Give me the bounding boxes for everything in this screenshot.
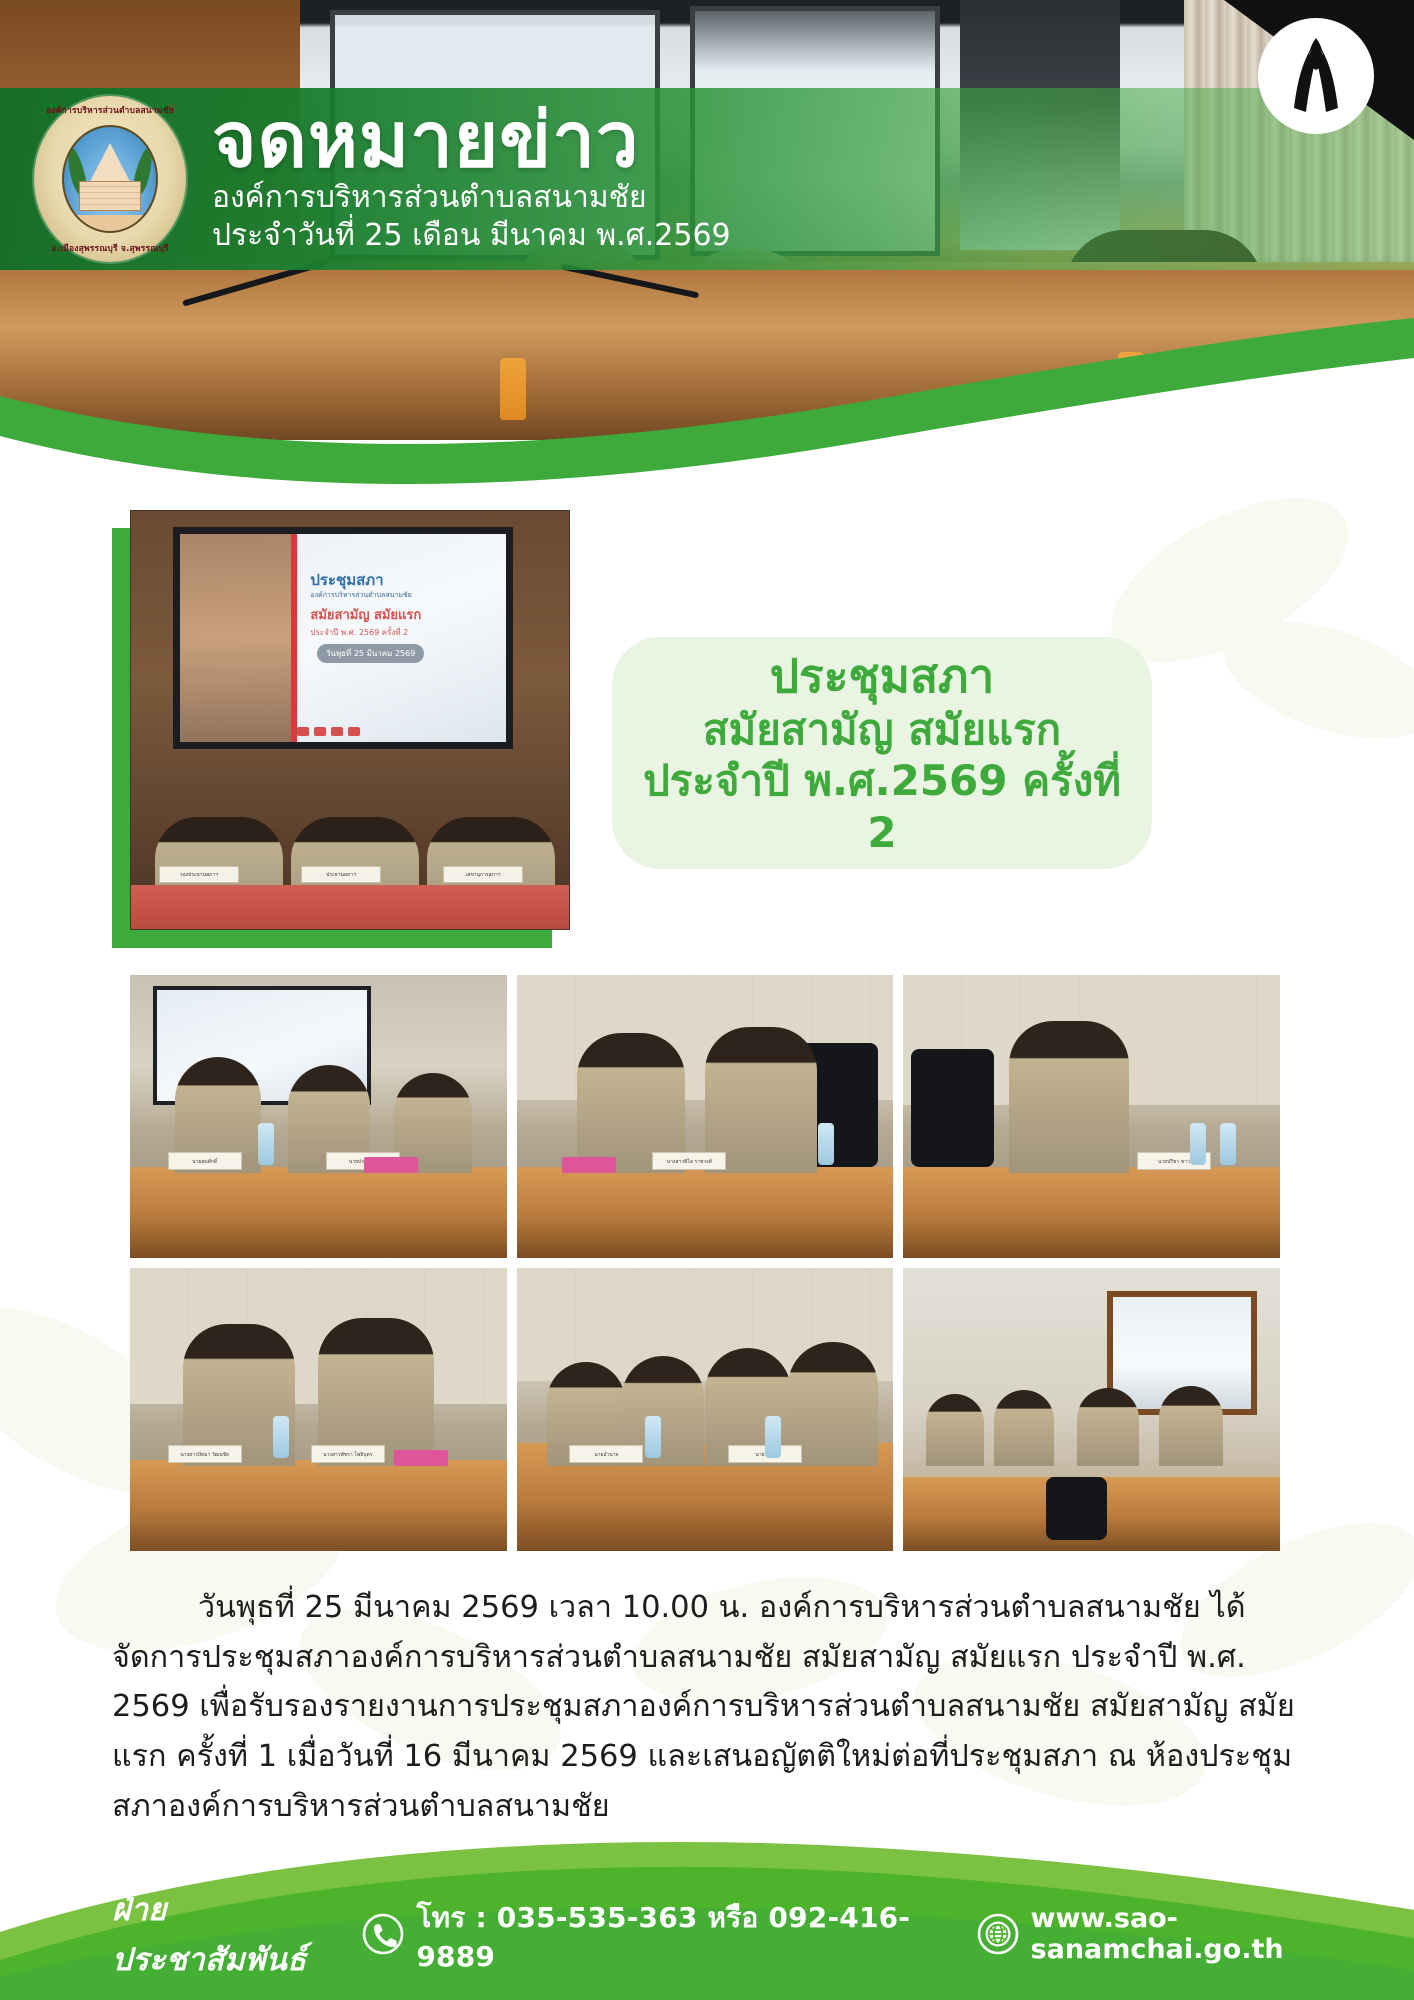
featured-photo-block: ประชุมสภา องค์การบริหารส่วนตำบลสนามชัย ส…	[130, 510, 570, 930]
organization-seal-icon: องค์การบริหารส่วนตำบลสนามชัย อ.เมืองสุพร…	[34, 96, 186, 262]
footer-department: ฝ่ายประชาสัมพันธ์	[112, 1884, 350, 1984]
header-text-block: จดหมายข่าว องค์การบริหารส่วนตำบลสนามชัย …	[212, 104, 731, 254]
featured-nameplate-1: รองประธานสภาฯ	[159, 866, 239, 883]
gallery1-nameplate-1: นายสมศักดิ์	[168, 1152, 242, 1170]
slide-org: องค์การบริหารส่วนตำบลสนามชัย	[310, 590, 411, 601]
gallery-photo-6	[903, 1268, 1280, 1551]
phone-icon	[362, 1913, 404, 1955]
gallery-photo-5: นายอำนาจ นายวิชัย	[517, 1268, 894, 1551]
event-title-line-2: สมัยสามัญ สมัยแรก	[703, 704, 1061, 755]
event-title-card: ประชุมสภา สมัยสามัญ สมัยแรก ประจำปี พ.ศ.…	[612, 637, 1152, 869]
newsletter-poster: องค์การบริหารส่วนตำบลสนามชัย อ.เมืองสุพร…	[0, 0, 1414, 2000]
gallery5-nameplate-1: นายอำนาจ	[569, 1445, 643, 1463]
gallery-photo-2: นางสาวพิไล ราชวงศ์	[517, 975, 894, 1258]
slide-year: ประจำปี พ.ศ. 2569 ครั้งที่ 2	[310, 626, 408, 639]
seal-ground	[64, 215, 156, 231]
slide-logo-row	[297, 727, 360, 736]
newsletter-title: จดหมายข่าว	[212, 104, 731, 175]
footer-website: www.sao-sanamchai.go.th	[1031, 1903, 1414, 1965]
projector-screen: ประชุมสภา องค์การบริหารส่วนตำบลสนามชัย ส…	[173, 527, 513, 749]
gallery-photo-1: นายสมศักดิ์ นายประเสริฐ	[130, 975, 507, 1258]
seal-emblem	[62, 125, 158, 233]
seal-top-text: องค์การบริหารส่วนตำบลสนามชัย	[34, 103, 186, 117]
hero-bottom-wave	[0, 300, 1414, 490]
gallery4-nameplate-1: นางสาวปัทมา วัฒนชัย	[168, 1445, 242, 1463]
gallery-photo-4: นางสาวปัทมา วัฒนชัย นางสาวพัชรา โพธิบุตร	[130, 1268, 507, 1551]
footer: ฝ่ายประชาสัมพันธ์ โทร : 035-535-363 หรือ…	[0, 1868, 1414, 2000]
gallery-photo-3: นายปรีชา ขาว	[903, 975, 1280, 1258]
organization-name: องค์การบริหารส่วนตำบลสนามชัย	[212, 179, 731, 217]
event-title-line-3: ประจำปี พ.ศ.2569 ครั้งที่ 2	[634, 755, 1130, 857]
featured-desk	[131, 885, 569, 929]
photo-gallery: นายสมศักดิ์ นายประเสริฐ นางสาวพิไล ราชวง…	[130, 975, 1280, 1551]
featured-nameplate-2: ประธานสภาฯ	[301, 866, 381, 883]
featured-photo: ประชุมสภา องค์การบริหารส่วนตำบลสนามชัย ส…	[130, 510, 570, 930]
gallery4-nameplate-2: นางสาวพัชรา โพธิบุตร	[311, 1445, 385, 1463]
footer-phone: โทร : 035-535-363 หรือ 092-416-9889	[416, 1896, 964, 1973]
slide-session: สมัยสามัญ สมัยแรก	[310, 604, 421, 625]
slide-image-strip	[180, 534, 291, 742]
globe-icon	[977, 1913, 1019, 1955]
seal-pagoda-base-icon	[79, 181, 141, 211]
mourning-ribbon-badge	[1258, 18, 1374, 134]
article-body: วันพุธที่ 25 มีนาคม 2569 เวลา 10.00 น. อ…	[112, 1583, 1308, 1832]
event-title-line-1: ประชุมสภา	[770, 648, 994, 704]
issue-date: ประจำวันที่ 25 เดือน มีนาคม พ.ศ.2569	[212, 217, 731, 255]
slide-divider	[291, 534, 297, 742]
slide-heading: ประชุมสภา	[310, 568, 383, 592]
seal-bottom-text: อ.เมืองสุพรรณบุรี จ.สุพรรณบุรี	[34, 241, 186, 255]
gallery2-nameplate-1: นางสาวพิไล ราชวงศ์	[652, 1152, 726, 1170]
mourning-ribbon-icon	[1284, 32, 1348, 120]
featured-nameplate-3: เลขานุการสภาฯ	[443, 866, 523, 883]
presentation-slide: ประชุมสภา องค์การบริหารส่วนตำบลสนามชัย ส…	[180, 534, 506, 742]
slide-date-pill: วันพุธที่ 25 มีนาคม 2569	[317, 644, 424, 663]
